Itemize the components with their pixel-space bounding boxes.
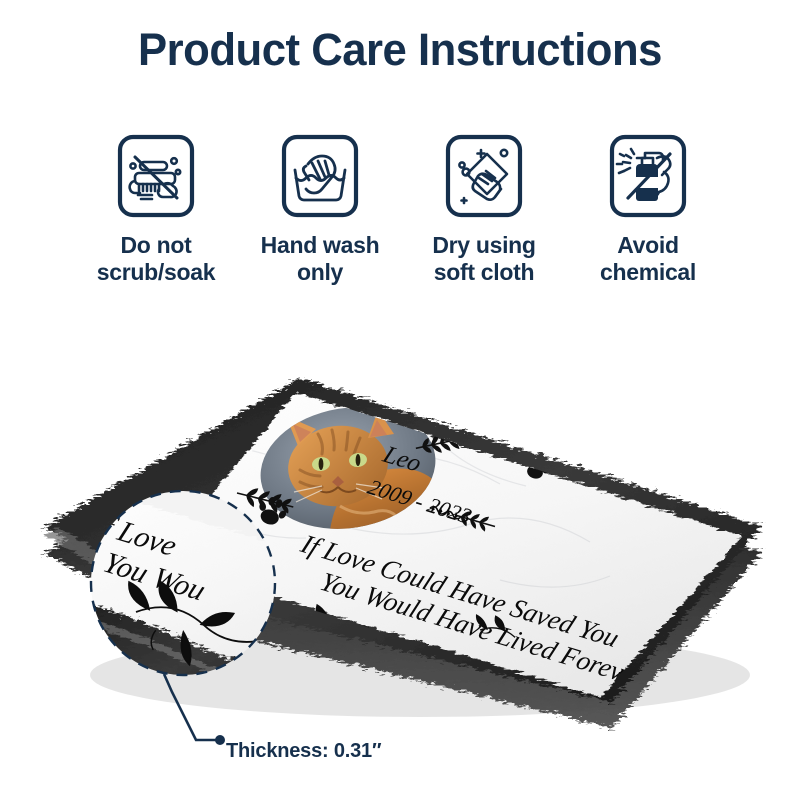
care-item-hand-wash: Hand wash only	[242, 134, 398, 286]
no-scrub-brush-icon	[117, 134, 195, 218]
hand-wash-basin-icon	[281, 134, 359, 218]
care-label-line2: chemical	[600, 259, 696, 285]
care-label-line1: Hand wash	[261, 232, 380, 258]
care-label-line1: Avoid	[617, 232, 679, 258]
thickness-label: Thickness: 0.31″	[226, 740, 381, 763]
care-label-line1: Dry using	[432, 232, 535, 258]
memorial-stone-graphic: Leo 2009 - 2023 If Love Could Have Saved…	[0, 330, 800, 800]
hand-cloth-wipe-icon	[445, 134, 523, 218]
care-label-avoid-chemical: Avoid chemical	[600, 232, 696, 286]
product-illustration: Leo 2009 - 2023 If Love Could Have Saved…	[0, 330, 800, 800]
care-label-hand-wash: Hand wash only	[261, 232, 380, 286]
page-title: Product Care Instructions	[12, 22, 788, 78]
care-label-dry-cloth: Dry using soft cloth	[432, 232, 535, 286]
callout-leader-dot	[215, 735, 225, 745]
care-item-dry-cloth: Dry using soft cloth	[406, 134, 562, 286]
care-item-do-not-scrub: Do not scrub/soak	[78, 134, 234, 286]
care-label-do-not-scrub: Do not scrub/soak	[97, 232, 215, 286]
care-label-line1: Do not	[120, 232, 191, 258]
care-label-line2: only	[297, 259, 343, 285]
no-spray-bottle-icon	[609, 134, 687, 218]
care-instructions-row: Do not scrub/soak Hand wash only	[78, 134, 726, 286]
care-label-line2: soft cloth	[434, 259, 535, 285]
care-item-avoid-chemical: Avoid chemical	[570, 134, 726, 286]
care-label-line2: scrub/soak	[97, 259, 215, 285]
